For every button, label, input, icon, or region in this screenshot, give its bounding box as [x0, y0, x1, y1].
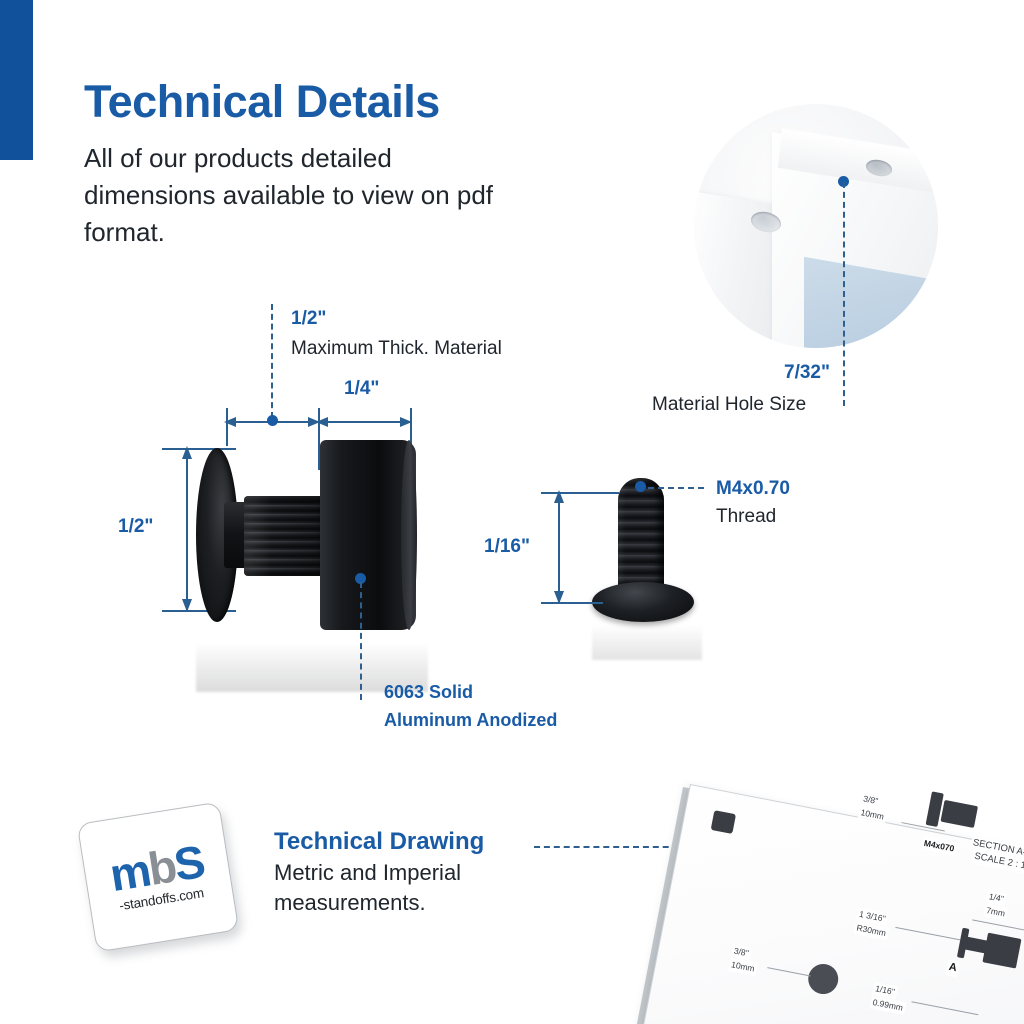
material-hole-value: 7/32": [784, 362, 830, 384]
drawing-part-code: M4x070: [921, 836, 957, 855]
drawing-dim-line: [972, 919, 1024, 931]
max-thickness-value: 1/2": [291, 308, 326, 330]
drawing-leader: [895, 927, 960, 941]
arrow-up-icon: [181, 446, 193, 464]
thread-leader-line: [648, 487, 704, 489]
max-thickness-label: Maximum Thick. Material: [291, 338, 502, 360]
screw-height-value: 1/16": [484, 536, 530, 558]
standoff-thread: [244, 496, 324, 576]
arrow-up-icon: [553, 490, 565, 508]
accent-bar: [0, 0, 33, 160]
drawing-part-isometric: [711, 810, 736, 834]
arrow-down-icon: [553, 590, 565, 608]
page-title: Technical Details: [84, 78, 440, 125]
page-subtitle: All of our products detailed dimensions …: [84, 140, 514, 251]
screw-product-image: [592, 478, 702, 633]
barrel-length-value: 1/4": [344, 378, 379, 400]
drawing-part-elevation-stem: [964, 937, 988, 954]
material-leader-line: [360, 582, 362, 700]
drawing-label-metric: 10mm: [728, 958, 758, 976]
dim-line-screw-height: [558, 494, 560, 602]
dim-line-barrel-diameter: [186, 450, 188, 610]
standoff-product-image: [196, 440, 428, 630]
thread-value: M4x0.70: [716, 478, 790, 500]
drawing-dim-line: [911, 1001, 978, 1015]
drawing-section-mark: A: [945, 960, 960, 978]
thread-marker-dot: [635, 481, 646, 492]
screw-thread-shaft: [618, 478, 664, 596]
drawing-label-metric: 7mm: [983, 904, 1008, 921]
arrow-right-icon: [398, 416, 416, 428]
drawing-leader: [767, 967, 810, 976]
footer-line-2: measurements.: [274, 890, 426, 916]
technical-drawing-sheet: M4x070 3/8" 10mm SECTION A-A SCALE 2 : 1…: [690, 784, 1024, 1024]
screw-reflection: [592, 616, 702, 660]
max-thickness-marker-dot: [267, 415, 278, 426]
mounted-panel-photo: [694, 104, 938, 348]
arrow-down-icon: [181, 598, 193, 616]
drawing-part-elevation-barrel: [982, 933, 1021, 969]
drawing-label-metric: 10mm: [858, 806, 888, 824]
max-thickness-leader-line: [271, 304, 273, 418]
drawing-leader: [901, 822, 944, 831]
thread-label: Thread: [716, 506, 776, 528]
mbs-standoffs-logo: mbS -standoffs.com: [77, 802, 240, 953]
arrow-left-icon: [316, 416, 334, 428]
drawing-part-section: [940, 800, 978, 828]
footer-line-1: Metric and Imperial: [274, 860, 461, 886]
barrel-diameter-value: 1/2": [118, 516, 153, 538]
ext-line-screw-bottom: [541, 602, 603, 604]
photo-content: [694, 104, 938, 348]
infographic-canvas: Technical Details All of our products de…: [0, 0, 1024, 1024]
drawing-label-metric: 0.99mm: [870, 996, 906, 1015]
hole-size-leader-line: [843, 182, 845, 406]
footer-heading: Technical Drawing: [274, 828, 484, 856]
sheet-surface: M4x070 3/8" 10mm SECTION A-A SCALE 2 : 1…: [634, 784, 1024, 1024]
material-line-2: Aluminum Anodized: [384, 710, 557, 731]
material-hole-label: Material Hole Size: [652, 394, 806, 416]
drawing-hole-large: [806, 961, 841, 996]
material-line-1: 6063 Solid: [384, 682, 473, 703]
arrow-left-icon: [224, 416, 242, 428]
standoff-barrel: [320, 440, 416, 630]
